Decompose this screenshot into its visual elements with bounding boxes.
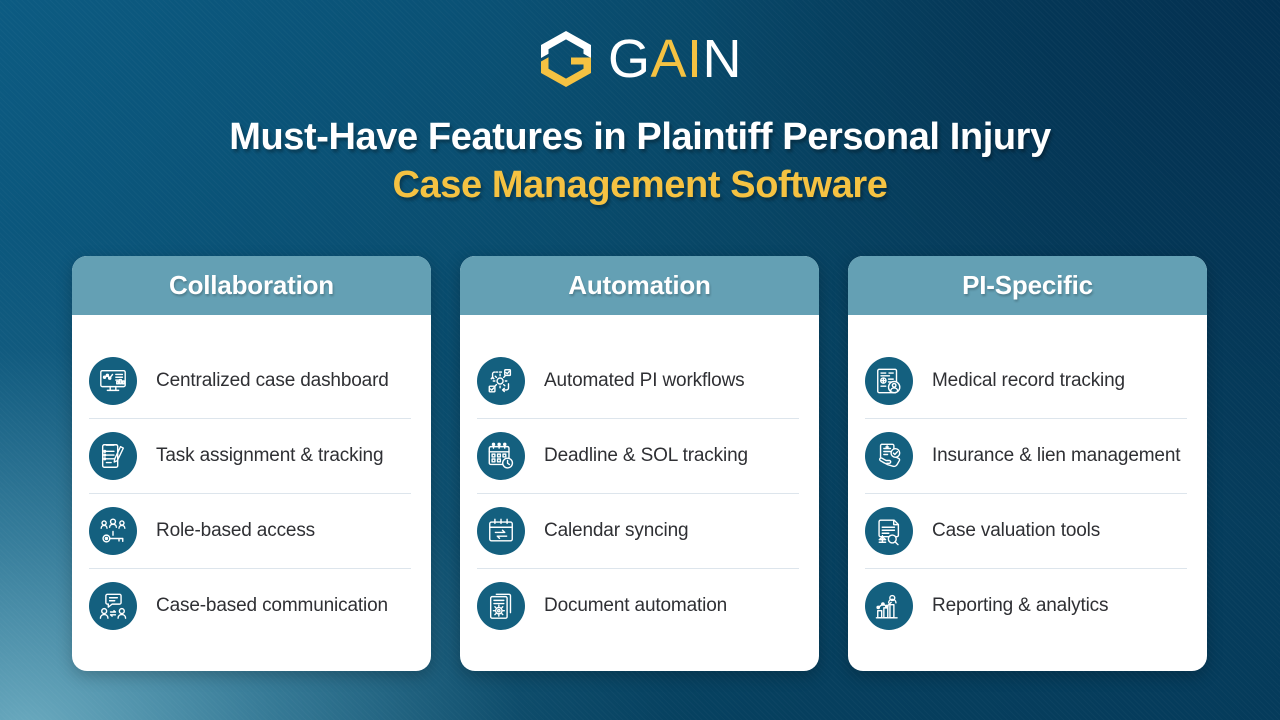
feature-label: Centralized case dashboard	[156, 367, 389, 395]
calendar-sync-icon	[477, 507, 525, 555]
medical-record-icon	[865, 357, 913, 405]
feature-item[interactable]: Role-based access	[89, 493, 411, 568]
brand-lockup: GAIN	[0, 22, 1280, 96]
scales-magnifier-icon	[865, 507, 913, 555]
feature-card-automation: Automation	[460, 256, 819, 671]
feature-item[interactable]: Case valuation tools	[865, 493, 1187, 568]
card-body-automation: Automated PI workflows	[460, 315, 819, 671]
card-title: PI-Specific	[962, 270, 1093, 301]
page-title-line-2: Case Management Software	[0, 162, 1280, 210]
feature-label: Reporting & analytics	[932, 592, 1108, 620]
insurance-hand-shield-icon	[865, 432, 913, 480]
bar-chart-analytics-icon	[865, 582, 913, 630]
page-title: Must-Have Features in Plaintiff Personal…	[0, 114, 1280, 210]
feature-item[interactable]: Centralized case dashboard	[89, 344, 411, 418]
gain-hexagon-logo-icon	[538, 30, 594, 88]
brand-wordmark-g: G	[608, 29, 651, 89]
feature-card-group: Collaboration	[72, 256, 1208, 671]
people-key-icon	[89, 507, 137, 555]
feature-label: Insurance & lien management	[932, 442, 1180, 470]
calendar-clock-icon	[477, 432, 525, 480]
brand-wordmark: GAIN	[608, 32, 742, 86]
card-header-automation: Automation	[460, 256, 819, 315]
dashboard-monitor-icon	[89, 357, 137, 405]
card-header-collaboration: Collaboration	[72, 256, 431, 315]
feature-item[interactable]: Case-based communication	[89, 568, 411, 643]
feature-label: Document automation	[544, 592, 727, 620]
feature-item[interactable]: Medical record tracking	[865, 344, 1187, 418]
feature-label: Deadline & SOL tracking	[544, 442, 748, 470]
brand-wordmark-ai: AI	[650, 29, 702, 89]
brand-wordmark-n: N	[703, 29, 743, 89]
infographic-content: GAIN Must-Have Features in Plaintiff Per…	[0, 0, 1280, 720]
document-gear-icon	[477, 582, 525, 630]
feature-label: Automated PI workflows	[544, 367, 745, 395]
card-body-collaboration: Centralized case dashboard	[72, 315, 431, 671]
feature-item[interactable]: Insurance & lien management	[865, 418, 1187, 493]
feature-label: Calendar syncing	[544, 517, 688, 545]
feature-label: Case valuation tools	[932, 517, 1100, 545]
page-title-line-1: Must-Have Features in Plaintiff Personal…	[0, 114, 1280, 162]
feature-item[interactable]: Task assignment & tracking	[89, 418, 411, 493]
feature-item[interactable]: Document automation	[477, 568, 799, 643]
card-title: Automation	[568, 270, 710, 301]
feature-card-pi-specific: PI-Specific	[848, 256, 1207, 671]
feature-label: Medical record tracking	[932, 367, 1125, 395]
card-body-pi-specific: Medical record tracking	[848, 315, 1207, 671]
feature-label: Task assignment & tracking	[156, 442, 383, 470]
feature-item[interactable]: Reporting & analytics	[865, 568, 1187, 643]
feature-item[interactable]: Calendar syncing	[477, 493, 799, 568]
feature-item[interactable]: Deadline & SOL tracking	[477, 418, 799, 493]
gear-workflow-icon	[477, 357, 525, 405]
feature-card-collaboration: Collaboration	[72, 256, 431, 671]
card-header-pi-specific: PI-Specific	[848, 256, 1207, 315]
feature-item[interactable]: Automated PI workflows	[477, 344, 799, 418]
clipboard-pen-icon	[89, 432, 137, 480]
card-title: Collaboration	[169, 270, 334, 301]
feature-label: Role-based access	[156, 517, 315, 545]
feature-label: Case-based communication	[156, 592, 388, 620]
chat-people-icon	[89, 582, 137, 630]
